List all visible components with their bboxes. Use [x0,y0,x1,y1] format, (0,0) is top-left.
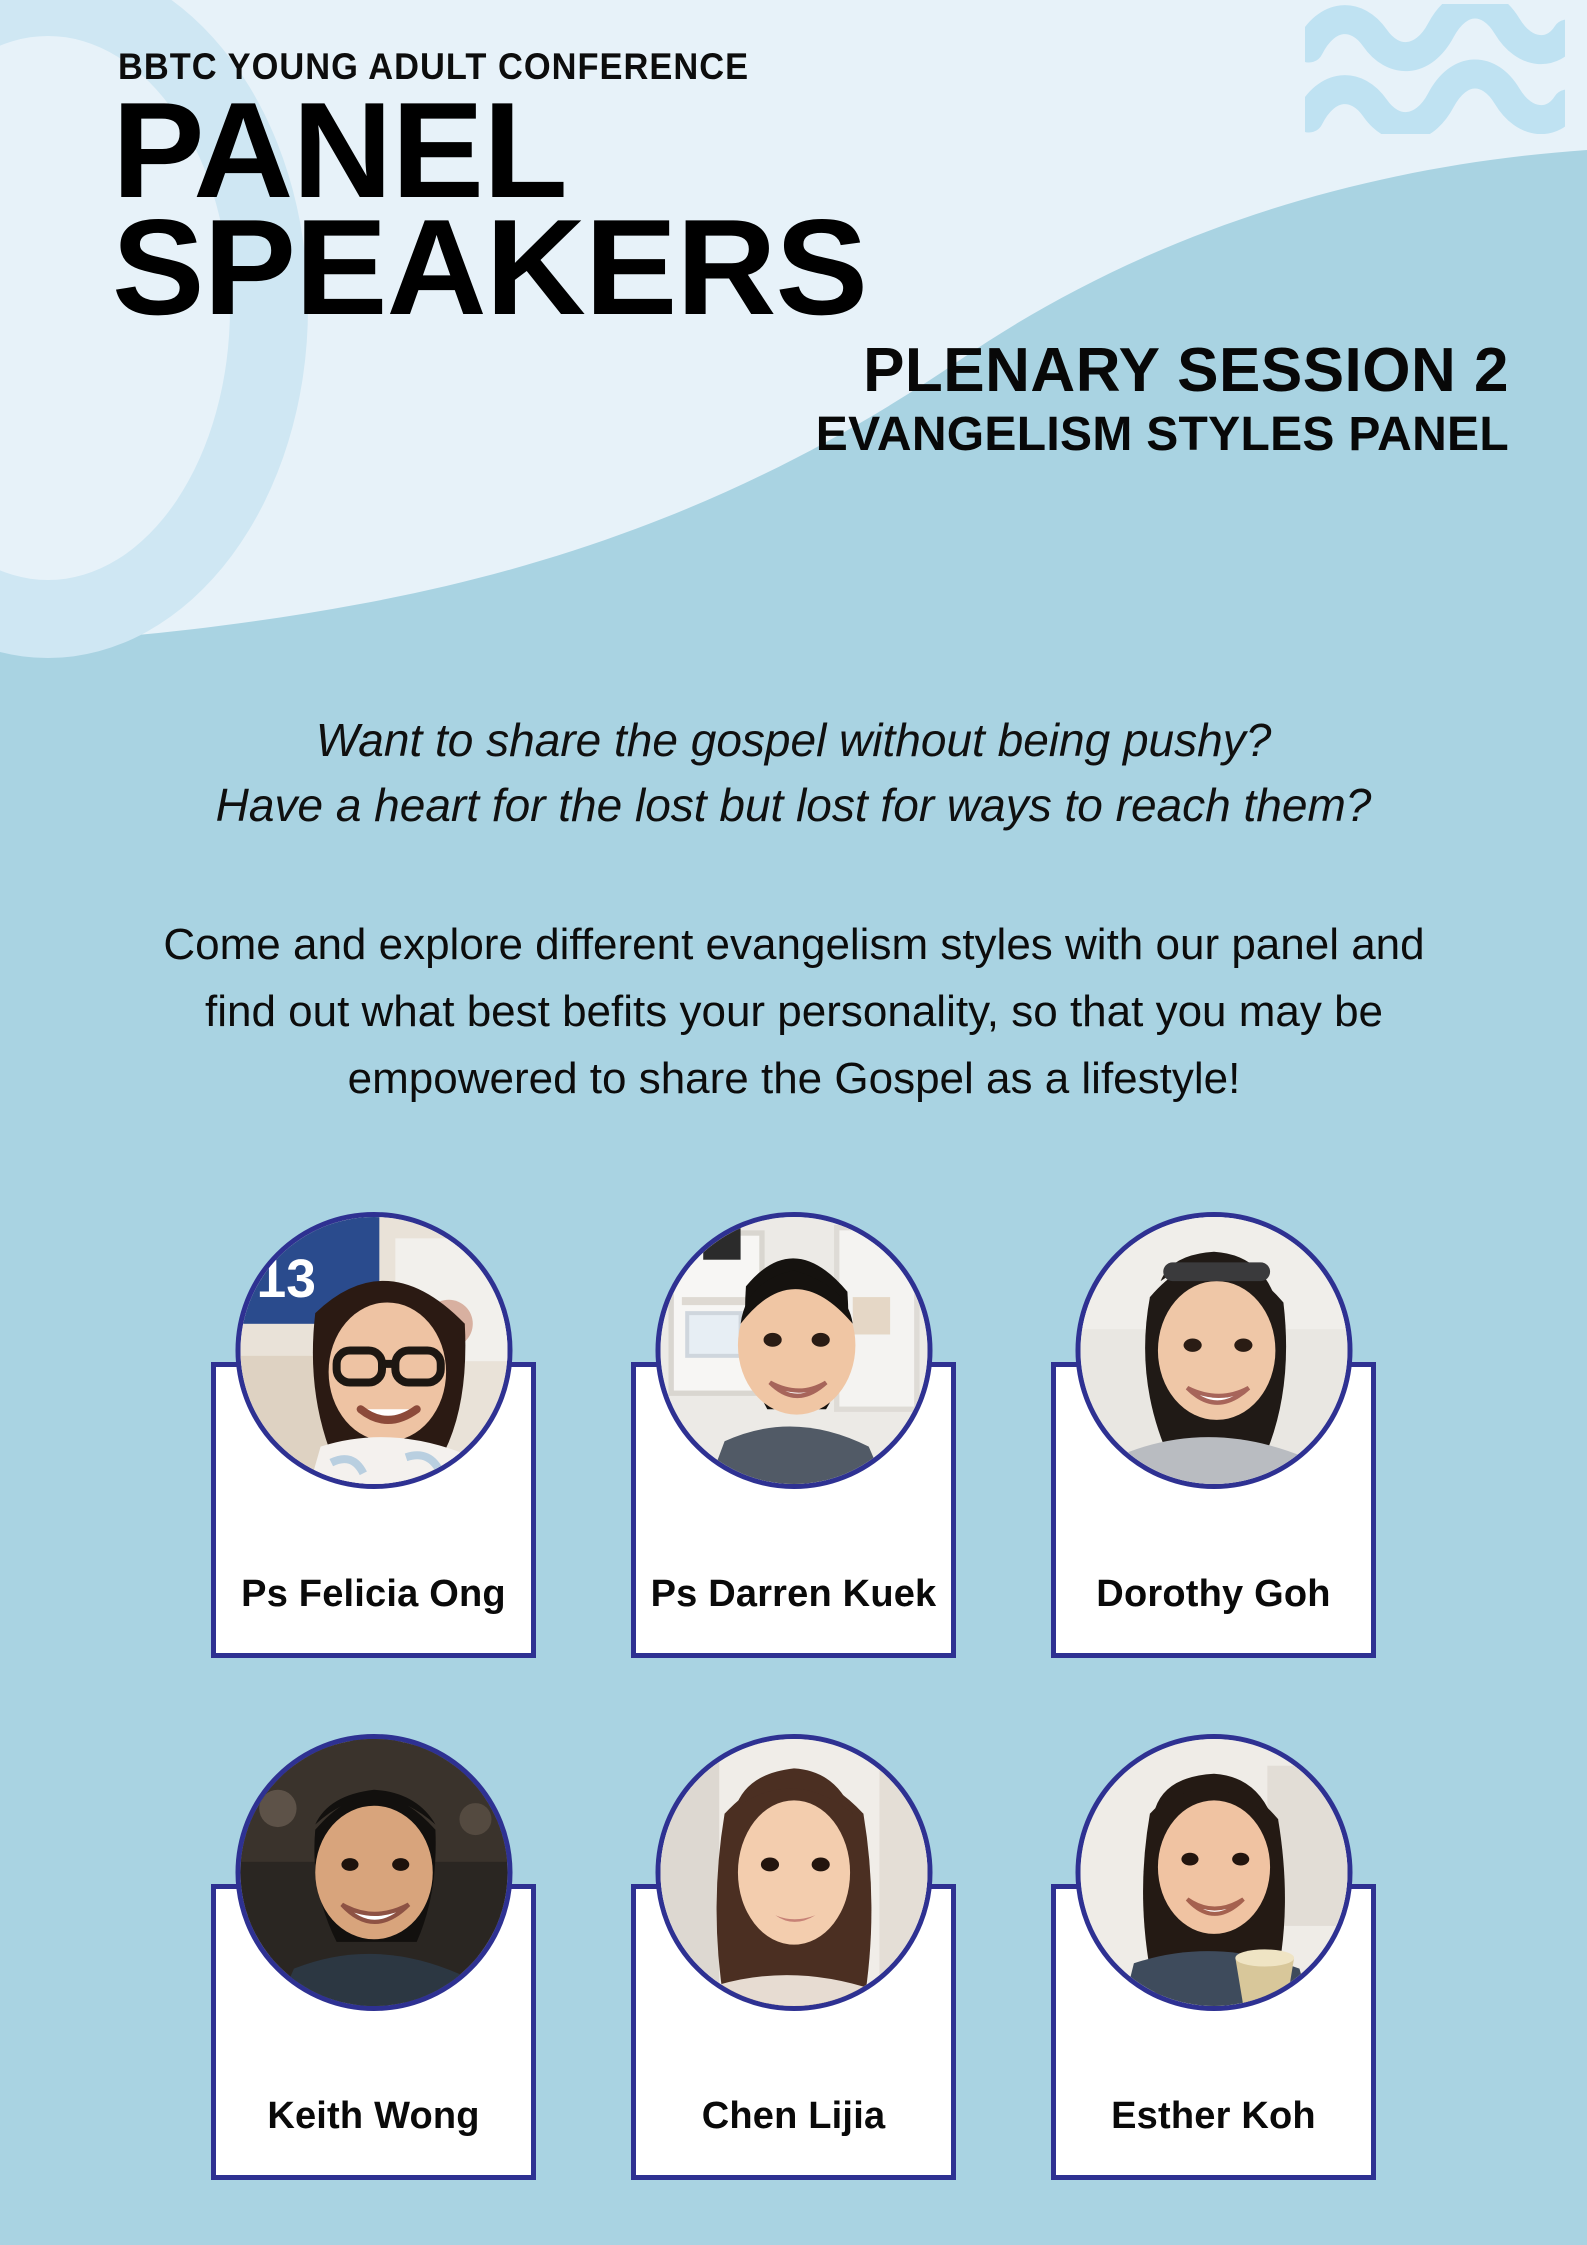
speaker-photo [660,1217,927,1484]
avatar [655,1734,932,2011]
speaker-name: Ps Darren Kuek [636,1535,951,1653]
tagline-line-1: Want to share the gospel without being p… [0,708,1587,773]
avatar [1075,1734,1352,2011]
speaker-card: Dorothy Goh [1051,1212,1376,1658]
avatar [1075,1212,1352,1489]
session-heading-block: PLENARY SESSION 2 EVANGELISM STYLES PANE… [816,338,1509,462]
tagline-block: Want to share the gospel without being p… [0,708,1587,839]
speaker-name: Ps Felicia Ong [216,1535,531,1653]
avatar [655,1212,932,1489]
svg-text:13: 13 [256,1250,315,1309]
body-copy-line-3: empowered to share the Gospel as a lifes… [44,1046,1544,1113]
speaker-card: Ps Felicia Ong 13 [211,1212,536,1658]
speakers-row-1: Ps Felicia Ong 13 [0,1212,1587,1658]
speaker-card: Keith Wong [211,1734,536,2180]
body-copy-line-2: find out what best befits your personali… [44,979,1544,1046]
speaker-name: Chen Lijia [636,2057,951,2175]
speakers-grid: Ps Felicia Ong 13 [0,1212,1587,2180]
speakers-row-2: Keith Wong [0,1734,1587,2180]
page-title-line-2: SPEAKERS [112,209,867,326]
speaker-photo [240,1739,507,2006]
session-heading: PLENARY SESSION 2 [816,338,1509,403]
speaker-photo [1080,1739,1347,2006]
speaker-photo [1080,1217,1347,1484]
tagline-line-2: Have a heart for the lost but lost for w… [0,773,1587,838]
speaker-photo [660,1739,927,2006]
body-copy-line-1: Come and explore different evangelism st… [44,912,1544,979]
avatar: 13 [235,1212,512,1489]
poster: BBTC YOUNG ADULT CONFERENCE PANEL SPEAKE… [0,0,1587,2245]
wave-squiggles-icon [1305,4,1565,134]
body-copy-block: Come and explore different evangelism st… [44,912,1544,1113]
session-subheading: EVANGELISM STYLES PANEL [816,409,1509,462]
speaker-card: Ps Darren Kuek [631,1212,956,1658]
speaker-card: Esther Koh [1051,1734,1376,2180]
speaker-card: Chen Lijia [631,1734,956,2180]
speaker-name: Esther Koh [1056,2057,1371,2175]
speaker-photo: 13 [240,1217,507,1484]
avatar [235,1734,512,2011]
speaker-name: Keith Wong [216,2057,531,2175]
page-title: PANEL SPEAKERS [112,92,867,326]
speaker-name: Dorothy Goh [1056,1535,1371,1653]
